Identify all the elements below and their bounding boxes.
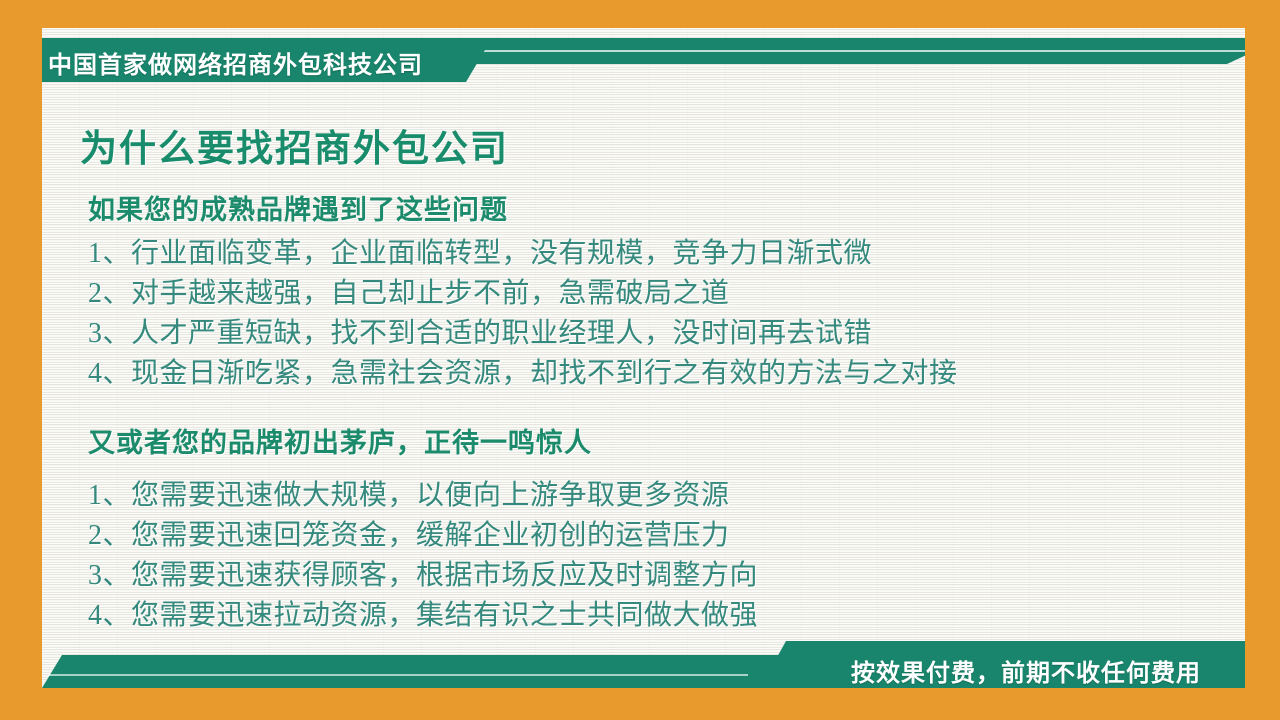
list-item: 2、您需要迅速回笼资金，缓解企业初创的运营压力 <box>88 516 758 556</box>
list-item: 2、对手越来越强，自己却止步不前，急需破局之道 <box>88 274 958 314</box>
list-item: 3、您需要迅速获得顾客，根据市场反应及时调整方向 <box>88 556 758 596</box>
list-item: 3、人才严重短缺，找不到合适的职业经理人，没时间再去试错 <box>88 314 958 354</box>
page-title: 为什么要找招商外包公司 <box>80 118 509 172</box>
list-item: 4、现金日渐吃紧，急需社会资源，却找不到行之有效的方法与之对接 <box>88 354 958 394</box>
problem-list-mature-brand: 1、行业面临变革，企业面临转型，没有规模，竞争力日渐式微 2、对手越来越强，自己… <box>88 234 958 394</box>
header-tagline: 中国首家做网络招商外包科技公司 <box>48 45 423 80</box>
list-item: 1、行业面临变革，企业面临转型，没有规模，竞争力日渐式微 <box>88 234 958 274</box>
slide-root: 中国首家做网络招商外包科技公司 为什么要找招商外包公司 如果您的成熟品牌遇到了这… <box>0 0 1280 720</box>
needs-list-new-brand: 1、您需要迅速做大规模，以便向上游争取更多资源 2、您需要迅速回笼资金，缓解企业… <box>88 476 758 636</box>
header-divider-line <box>470 50 1245 52</box>
list-item: 4、您需要迅速拉动资源，集结有识之士共同做大做强 <box>88 596 758 636</box>
section-heading-mature-brand: 如果您的成熟品牌遇到了这些问题 <box>88 188 508 227</box>
footer-divider-line <box>48 674 748 676</box>
footer-tagline: 按效果付费，前期不收任何费用 <box>851 653 1201 688</box>
section-heading-new-brand: 又或者您的品牌初出茅庐，正待一鸣惊人 <box>88 421 592 460</box>
list-item: 1、您需要迅速做大规模，以便向上游争取更多资源 <box>88 476 758 516</box>
